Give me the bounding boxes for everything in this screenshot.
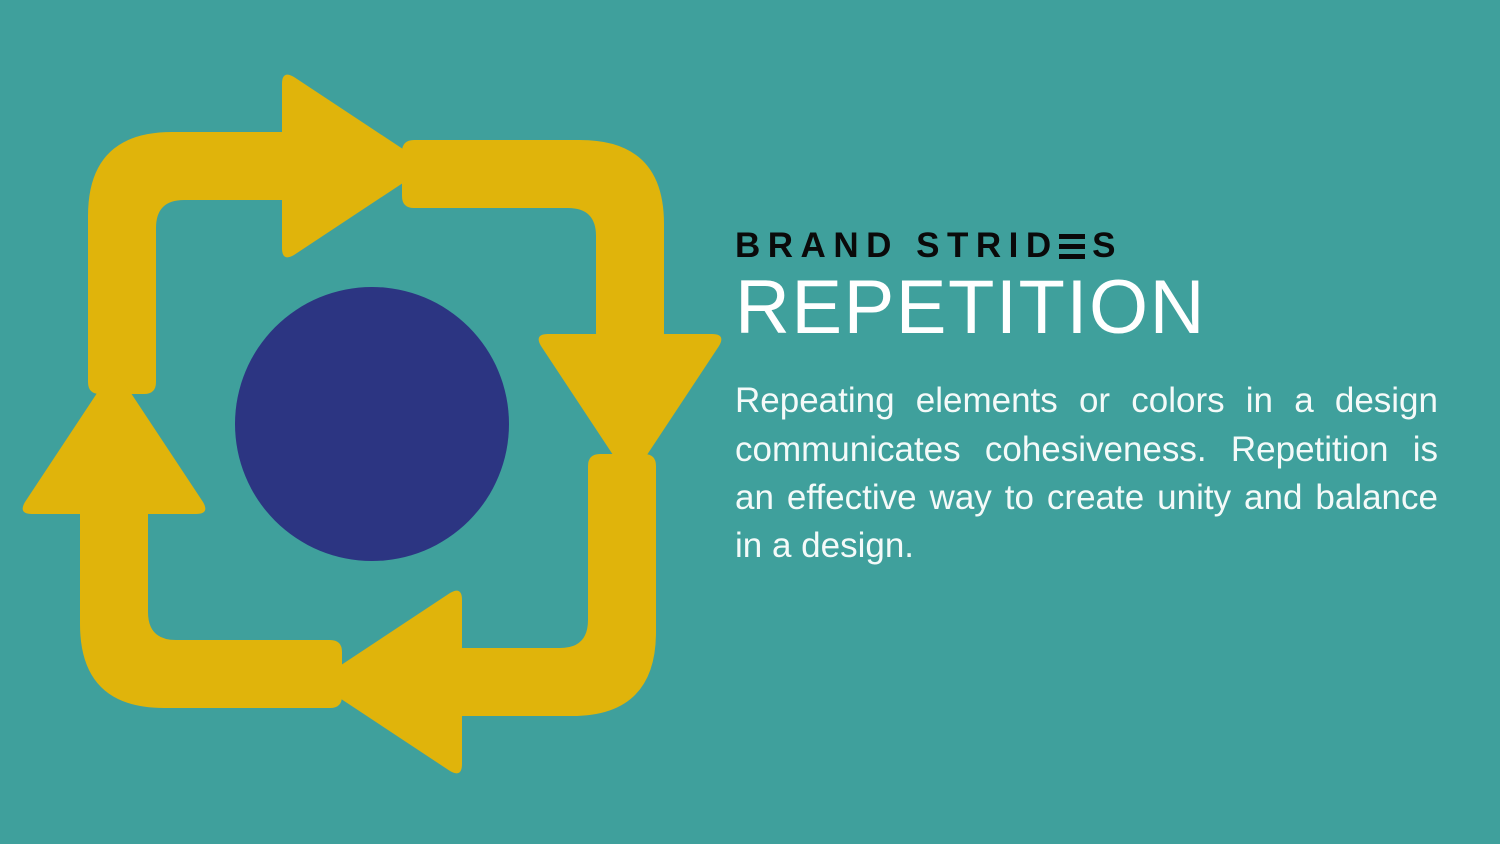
slide-canvas: BRAND STRIDS REPETITION Repeating elemen… bbox=[0, 0, 1500, 844]
stylized-e-bars-icon bbox=[1059, 234, 1085, 259]
brand-title-segment-primary: BRAND STRID bbox=[735, 228, 1059, 263]
repetition-cycle-diagram bbox=[14, 66, 730, 782]
page-title: REPETITION bbox=[735, 272, 1438, 343]
brand-title-segment-secondary: S bbox=[1092, 228, 1123, 263]
text-content-block: BRAND STRIDS REPETITION Repeating elemen… bbox=[735, 228, 1438, 571]
brand-title: BRAND STRIDS bbox=[735, 228, 1438, 263]
center-circle bbox=[235, 287, 509, 561]
body-description: Repeating elements or colors in a design… bbox=[735, 377, 1438, 570]
